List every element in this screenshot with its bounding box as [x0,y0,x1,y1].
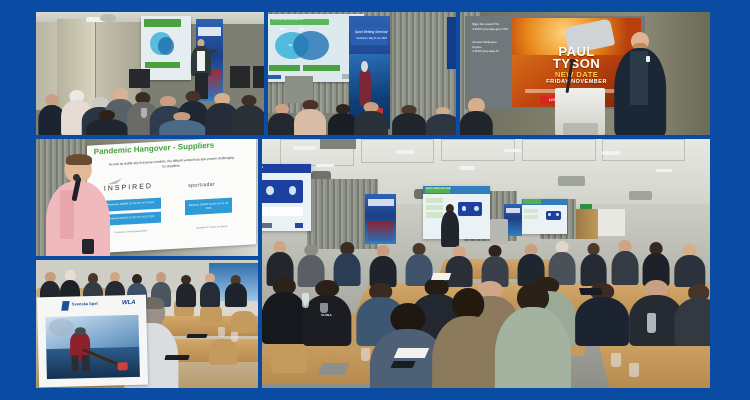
projection-screen-left: Data [262,164,311,231]
wla-logo: WLA [122,300,136,306]
slide-subtitle: As well as visible key European markets,… [107,156,235,173]
poster-org-label: Svenska Spel [72,301,98,307]
stat-box-3: Revenue DOWN 10.1% YoY in H1 2025 [185,198,232,216]
venn-label-eu: EU [289,44,293,47]
banner-title: Sport Betting Seminar [355,30,388,34]
logo-sportradar: sportradar [188,182,215,189]
panel-presenter-and-audience [36,12,264,135]
source-note-2: Classified for 'Venue and Sports' [178,225,245,231]
panel-screen-and-banner: A 10-year right-based approach WLA IOC E… [268,12,456,135]
banner-date: Stockholm, May 21-22, 2025 [356,37,386,40]
panel-podium-speaker: Bigger than regular FTDs of EURO group s… [460,12,710,135]
presentation-slide: Pandemic Hangover - Suppliers As well as… [87,139,256,254]
screen-middle-header: Sport betting Seminar [426,187,451,190]
venn-label-ioc: IOC [299,28,304,32]
slide-title: Pandemic Hangover - Suppliers [94,139,249,157]
panel-conference-room-with-poster: Svenska Spel WLA [36,260,258,388]
panel-conference-audience-wide: Data Sport betting Seminar [262,139,710,388]
venn-label-wla: WLA [280,28,287,32]
ice-hockey-poster: Svenska Spel WLA [37,295,148,387]
speaker-figure [610,32,670,135]
panel-pandemic-hangover-presentation: Pandemic Hangover - Suppliers As well as… [36,139,258,256]
photo-collage: A 10-year right-based approach WLA IOC E… [0,0,750,400]
jersey-text: CHINA [315,313,338,319]
presenter-figure [45,155,112,256]
screen-left-header: Data [262,165,263,169]
